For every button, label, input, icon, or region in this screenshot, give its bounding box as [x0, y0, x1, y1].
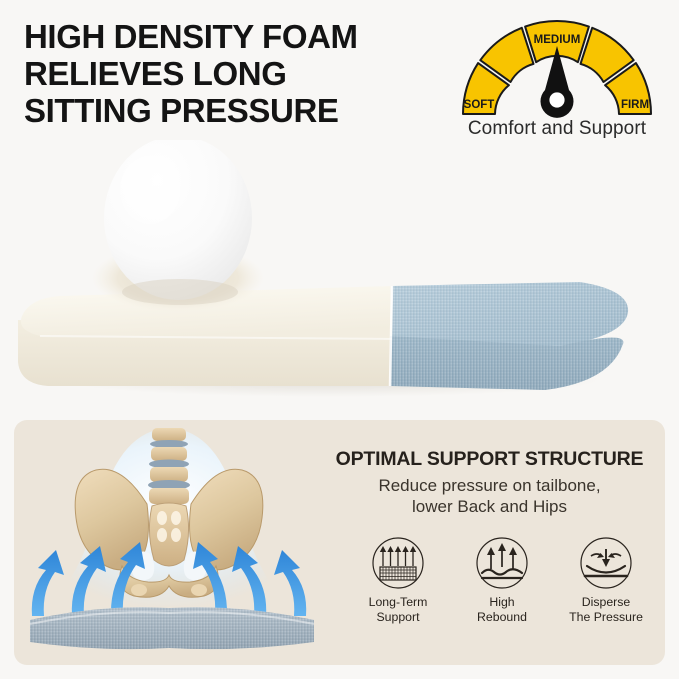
feature-item: High Rebound: [456, 536, 548, 624]
feature-label-line-2: Rebound: [477, 610, 527, 625]
gauge-caption: Comfort and Support: [443, 118, 671, 140]
page-title: HIGH DENSITY FOAM RELIEVES LONG SITTING …: [24, 18, 444, 129]
headline-line-1: HIGH DENSITY FOAM: [24, 18, 444, 55]
gauge-label-firm: FIRM: [621, 99, 649, 111]
headline-line-2: RELIEVES LONG: [24, 55, 444, 92]
feature-label-line-1: High: [477, 595, 527, 610]
feature-label: High Rebound: [477, 595, 527, 624]
feature-list: Long-Term Support: [352, 536, 652, 624]
product-infographic: HIGH DENSITY FOAM RELIEVES LONG SITTING …: [0, 0, 679, 679]
headline-line-3: SITTING PRESSURE: [24, 92, 444, 129]
feature-label-line-2: Support: [369, 610, 428, 625]
grid-upward-arrows-icon: [371, 536, 425, 590]
gauge-label-medium: MEDIUM: [534, 34, 581, 46]
product-photo: [0, 140, 679, 400]
feature-label: Disperse The Pressure: [569, 595, 643, 624]
panel-title: OPTIMAL SUPPORT STRUCTURE: [314, 448, 665, 471]
feature-label-line-2: The Pressure: [569, 610, 643, 625]
firmness-gauge: SOFT MEDIUM FIRM Comfort and Support: [443, 16, 671, 146]
wave-upward-arrows-icon: [475, 536, 529, 590]
panel-subtitle: Reduce pressure on tailbone, lower Back …: [314, 475, 665, 517]
pelvis-on-cushion-illustration: [14, 420, 324, 665]
pelvis-illustration-svg: [14, 420, 324, 665]
converging-arrows-icon: [579, 536, 633, 590]
support-structure-text: OPTIMAL SUPPORT STRUCTURE Reduce pressur…: [314, 420, 665, 665]
firmness-gauge-icon: SOFT MEDIUM FIRM: [443, 16, 671, 121]
support-structure-panel: OPTIMAL SUPPORT STRUCTURE Reduce pressur…: [14, 420, 665, 665]
feature-label-line-1: Long-Term: [369, 595, 428, 610]
panel-subtitle-line-2: lower Back and Hips: [314, 496, 665, 517]
panel-subtitle-line-1: Reduce pressure on tailbone,: [314, 475, 665, 496]
feature-label-line-1: Disperse: [569, 595, 643, 610]
feature-item: Disperse The Pressure: [560, 536, 652, 624]
feature-item: Long-Term Support: [352, 536, 444, 624]
feature-label: Long-Term Support: [369, 595, 428, 624]
gauge-label-soft: SOFT: [464, 99, 495, 111]
foam-cushion-with-egg-photo: [0, 140, 679, 400]
